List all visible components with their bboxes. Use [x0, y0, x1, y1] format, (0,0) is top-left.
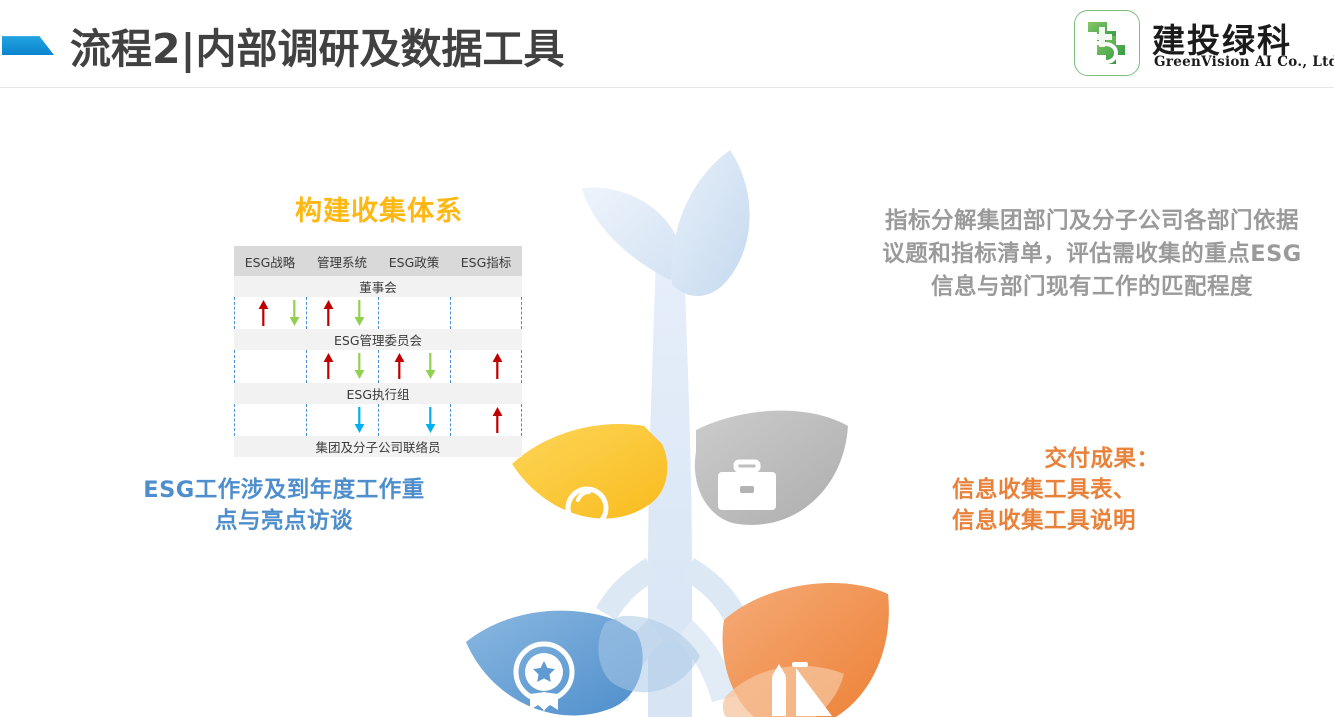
- slide-header: 流程2|内部调研及数据工具 建投绿科 Gree: [0, 0, 1334, 88]
- matrix-arrow-up-4: [323, 353, 334, 379]
- matrix-row-liaison: 集团及分子公司联络员: [234, 436, 522, 457]
- callout-orange-heading: 交付成果：: [952, 444, 1252, 475]
- matrix-column-divider-1: [306, 404, 307, 436]
- matrix-column-divider-0: [234, 404, 235, 436]
- matrix-arrow-band-1: [234, 297, 522, 329]
- matrix-column-divider-3: [450, 404, 451, 436]
- matrix-col-esg-strategy: ESG战略: [234, 252, 306, 271]
- matrix-row-board: 董事会: [234, 276, 522, 297]
- collection-system-matrix: ESG战略 管理系统 ESG政策 ESG指标 董事会 ESG管理委员会 ESG执…: [234, 246, 522, 431]
- company-logo: 建投绿科 GreenVision AI Co., Ltd.: [1074, 8, 1306, 80]
- matrix-column-divider-2: [378, 404, 379, 436]
- matrix-arrow-up-2: [323, 300, 334, 326]
- matrix-column-divider-2: [378, 297, 379, 329]
- leaf-orange: [723, 583, 889, 717]
- matrix-column-divider-3: [450, 350, 451, 383]
- matrix-column-divider-1: [306, 350, 307, 383]
- matrix-header-row: ESG战略 管理系统 ESG政策 ESG指标: [234, 246, 522, 276]
- matrix-column-divider-1: [306, 297, 307, 329]
- callout-orange-line3: 信息收集工具说明: [952, 508, 1136, 534]
- matrix-arrow-band-3: [234, 404, 522, 436]
- matrix-column-divider-4: [521, 404, 522, 436]
- matrix-column-divider-0: [234, 297, 235, 329]
- matrix-arrow-down-10: [425, 407, 436, 433]
- leaf-gray: [695, 411, 848, 525]
- matrix-col-esg-policy: ESG政策: [378, 252, 450, 271]
- matrix-col-esg-indicator: ESG指标: [450, 252, 522, 271]
- matrix-column-divider-0: [234, 350, 235, 383]
- matrix-arrow-up-8: [492, 353, 503, 379]
- page-title: 流程2|内部调研及数据工具: [70, 15, 565, 75]
- matrix-column-divider-2: [378, 350, 379, 383]
- leaf-yellow: [512, 424, 667, 551]
- diagram-title: 构建收集体系: [234, 189, 524, 228]
- title-chevron-icon: [2, 33, 54, 55]
- matrix-arrow-up-0: [258, 300, 269, 326]
- matrix-col-management-system: 管理系统: [306, 252, 378, 271]
- matrix-arrow-down-5: [354, 353, 365, 379]
- matrix-arrow-down-1: [289, 300, 300, 326]
- callout-orange-block: 交付成果： 信息收集工具表、 信息收集工具说明: [952, 444, 1252, 537]
- callout-orange-line2: 信息收集工具表、: [952, 477, 1136, 503]
- matrix-arrow-down-7: [425, 353, 436, 379]
- matrix-arrow-down-3: [354, 300, 365, 326]
- matrix-arrow-up-11: [492, 407, 503, 433]
- header-divider: [0, 87, 1334, 88]
- matrix-column-divider-3: [450, 297, 451, 329]
- logo-name-en: GreenVision AI Co., Ltd.: [1154, 54, 1334, 70]
- matrix-row-esg-exec-group: ESG执行组: [234, 383, 522, 404]
- matrix-arrow-band-2: [234, 350, 522, 383]
- matrix-column-divider-4: [521, 297, 522, 329]
- matrix-row-esg-committee: ESG管理委员会: [234, 329, 522, 350]
- matrix-arrow-up-6: [394, 353, 405, 379]
- callout-blue-text: ESG工作涉及到年度工作重点与亮点访谈: [138, 475, 430, 537]
- callout-gray-text: 指标分解集团部门及分子公司各部门依据议题和指标清单，评估需收集的重点ESG信息与…: [882, 205, 1302, 304]
- leaf-top-left: [582, 187, 681, 280]
- matrix-arrow-down-9: [354, 407, 365, 433]
- matrix-column-divider-4: [521, 350, 522, 383]
- slide-root: 流程2|内部调研及数据工具 建投绿科 Gree: [0, 0, 1334, 717]
- leaf-top-right: [671, 150, 749, 296]
- green-cross-logo-icon: [1074, 10, 1140, 76]
